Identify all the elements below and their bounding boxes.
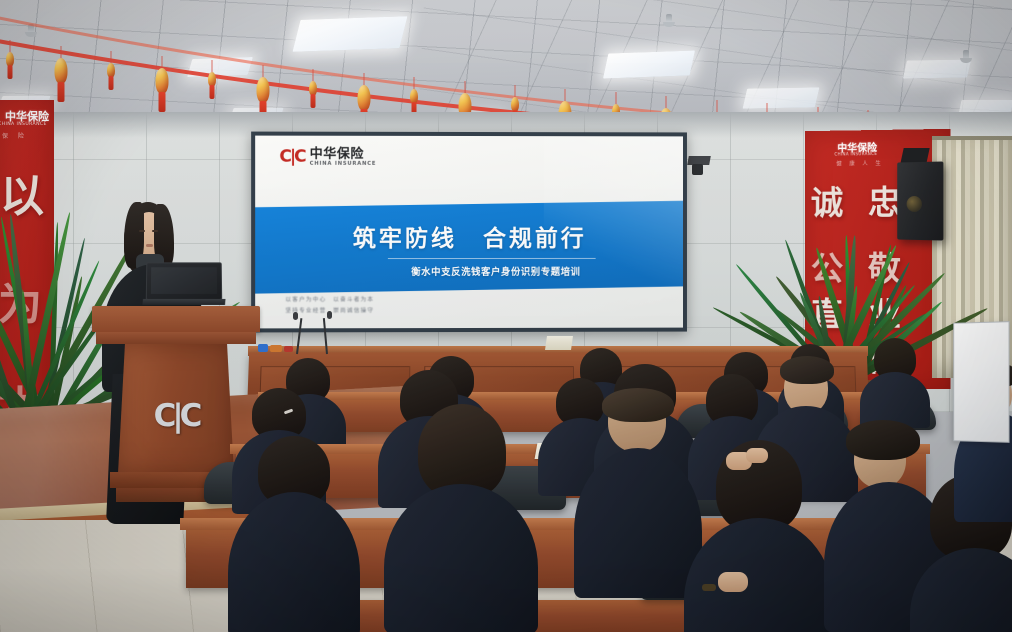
banner-left-tagline: 保 险 [2, 131, 28, 140]
wall-speaker [897, 161, 943, 240]
slide-title: 筑牢防线 合规前行 [353, 218, 587, 252]
microphone-icon [327, 311, 332, 319]
flipchart-easel [953, 321, 1009, 443]
conference-room-photo: 中华保险 CHINA INSURANCE 保 险 以 为 本 中华保险 CHIN… [0, 0, 1012, 632]
ceiling-panel-light [292, 16, 407, 52]
ceiling-panel-light [903, 59, 971, 78]
hand [718, 572, 748, 592]
ceiling-panel-light [603, 51, 695, 79]
banner-right-tagline: 健 康 人 生 [836, 159, 883, 168]
desk-item [284, 346, 293, 352]
microphone-icon [293, 312, 298, 320]
sprinkler-icon [28, 24, 34, 34]
hand [746, 448, 768, 463]
ceiling-panel-light [743, 87, 820, 108]
wristwatch [702, 584, 716, 591]
cic-logo-mark: C|C [279, 149, 304, 166]
banner-left-company-en: CHINA INSURANCE [0, 122, 47, 127]
slide-logo: C|C 中华保险 CHINA INSURANCE [279, 148, 376, 167]
slide-divider [388, 257, 596, 258]
sprinkler-icon [963, 50, 969, 60]
desk-item [270, 345, 282, 352]
projection-screen: C|C 中华保险 CHINA INSURANCE 筑牢防线 合规前行 衡水中支反… [255, 136, 683, 329]
slide-title-band: 筑牢防线 合规前行 衡水中支反洗钱客户身份识别专题培训 [255, 201, 683, 294]
ceiling-panel-light [187, 57, 253, 77]
camera-icon [692, 164, 703, 175]
slide-footer-line-1: 以客户为中心 以奋斗者为本 [285, 295, 374, 303]
podium-cic-logo: C|C [154, 398, 199, 434]
desk-paper [545, 336, 573, 350]
banner-right-company-en: CHINA INSURANCE [834, 151, 877, 157]
projection-screen-frame: C|C 中华保险 CHINA INSURANCE 筑牢防线 合规前行 衡水中支反… [251, 132, 687, 333]
slide-company-en: CHINA INSURANCE [310, 161, 376, 167]
slide-subtitle: 衡水中支反洗钱客户身份识别专题培训 [411, 263, 580, 277]
sprinkler-icon [666, 14, 672, 24]
laptop [146, 262, 223, 306]
slide-company-cn: 中华保险 [310, 148, 376, 162]
